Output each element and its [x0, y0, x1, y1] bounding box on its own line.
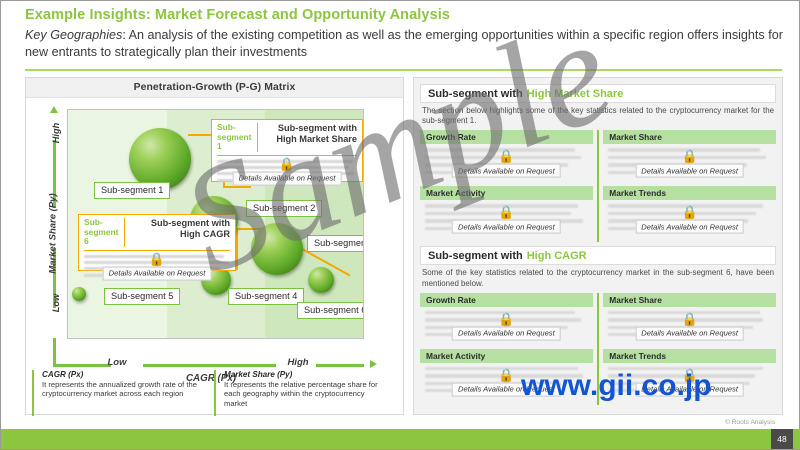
callout-2-blurred-body: 🔒 Details Available on Request: [84, 255, 230, 277]
callout-1-blurred-body: 🔒 Details Available on Request: [217, 160, 357, 182]
leader-line-seg2-v: [236, 228, 238, 270]
section-1-col-right: Market Share 🔒 Details Available on Requ…: [603, 130, 776, 242]
x-tick-high: High: [278, 357, 318, 368]
subtitle-emphasis: Key Geographies: [25, 28, 122, 42]
definitions-row: CAGR (Px) It represents the annualized g…: [26, 370, 403, 416]
stat-card-title: Market Activity: [420, 186, 593, 200]
bubble-sub-segment-3[interactable]: [251, 223, 303, 275]
stat-card-market-activity[interactable]: Market Activity 🔒 Details Available on R…: [420, 186, 593, 238]
section-1-description: The section below highlights some of the…: [420, 103, 776, 130]
copyright-text: © Roots Analysis: [725, 419, 775, 426]
section-2-prefix: Sub-segment with: [428, 250, 523, 262]
page-number: 48: [771, 429, 793, 449]
stat-card-body: 🔒 Details Available on Request: [420, 200, 593, 238]
stat-card-body: 🔒 Details Available on Request: [420, 363, 593, 401]
section-1-highlight: High Market Share: [527, 88, 624, 100]
callout-2-head: Sub-segment 6 Sub-segment with High CAGR: [84, 218, 230, 247]
stat-card-body: 🔒 Details Available on Request: [603, 200, 776, 238]
section-2-col-left: Growth Rate 🔒 Details Available on Reque…: [420, 293, 593, 405]
stat-card-body: 🔒 Details Available on Request: [420, 144, 593, 182]
stat-card-market-share[interactable]: Market Share 🔒 Details Available on Requ…: [603, 293, 776, 345]
leader-line-seg1-h2: [223, 186, 251, 188]
stat-card-growth-rate[interactable]: Growth Rate 🔒 Details Available on Reque…: [420, 130, 593, 182]
matrix-title: Penetration-Growth (P-G) Matrix: [134, 82, 296, 93]
bubble-sub-segment-1[interactable]: [129, 128, 191, 190]
section-2-col-right: Market Share 🔒 Details Available on Requ…: [603, 293, 776, 405]
page-title: Example Insights: Market Forecast and Op…: [25, 7, 450, 23]
definition-market-share-desc: It represents the relative percentage sh…: [224, 380, 386, 408]
x-axis-segment-right: [316, 364, 364, 367]
x-tick-low: Low: [94, 357, 140, 368]
matrix-card: Penetration-Growth (P-G) Matrix Market S…: [25, 77, 404, 415]
stat-card-title: Market Activity: [420, 349, 593, 363]
y-tick-high: High: [51, 113, 61, 153]
stat-card-body: 🔒 Details Available on Request: [603, 363, 776, 401]
page-subtitle: Key Geographies: An analysis of the exis…: [25, 27, 783, 60]
stat-card-title: Market Share: [603, 130, 776, 144]
callout-1-subsegment: Sub-segment 1: [217, 123, 257, 152]
section-2-description: Some of the key statistics related to th…: [420, 265, 776, 292]
stat-card-market-activity[interactable]: Market Activity 🔒 Details Available on R…: [420, 349, 593, 401]
section-1-prefix: Sub-segment with: [428, 88, 523, 100]
y-axis-segment-low: [53, 338, 56, 366]
stat-card-title: Growth Rate: [420, 130, 593, 144]
callout-2-subsegment: Sub-segment 6: [84, 218, 124, 247]
callout-1-title: Sub-segment with High Market Share: [264, 123, 357, 145]
section-2-card-grid: Growth Rate 🔒 Details Available on Reque…: [420, 293, 776, 405]
callout-high-market-share[interactable]: Sub-segment 1 Sub-segment with High Mark…: [211, 119, 363, 182]
callout-1-rule: [217, 155, 357, 156]
label-sub-segment-4[interactable]: Sub-segment 4: [228, 288, 304, 305]
callout-2-title: Sub-segment with High CAGR: [131, 218, 230, 240]
matrix-plot-area: Market Share (Py) High Low CAGR (Px) Low…: [26, 98, 403, 416]
section-2-highlight: High CAGR: [527, 250, 587, 262]
bubble-plot: Sub-segment 1 Sub-segment 2 Sub-segment …: [67, 109, 364, 339]
stat-card-title: Growth Rate: [420, 293, 593, 307]
bubble-sub-segment-6[interactable]: [308, 267, 334, 293]
x-axis-segment-mid: [143, 364, 276, 367]
matrix-title-bar: Penetration-Growth (P-G) Matrix: [26, 78, 403, 98]
title-divider: [25, 69, 782, 71]
definition-cagr-desc: It represents the annualized growth rate…: [42, 380, 206, 399]
section-header-high-market-share: Sub-segment with High Market Share: [420, 84, 776, 103]
y-axis-label: Market Share (Py): [48, 179, 59, 289]
stat-card-body: 🔒 Details Available on Request: [420, 307, 593, 345]
label-sub-segment-5[interactable]: Sub-segment 5: [104, 288, 180, 305]
insights-panel: Sub-segment with High Market Share The s…: [413, 77, 783, 415]
stat-card-title: Market Trends: [603, 349, 776, 363]
stat-card-body: 🔒 Details Available on Request: [603, 144, 776, 182]
callout-1-head: Sub-segment 1 Sub-segment with High Mark…: [217, 123, 357, 152]
definition-market-share: Market Share (Py) It represents the rela…: [214, 370, 394, 416]
callout-1-divider: [257, 123, 258, 152]
label-sub-segment-2[interactable]: Sub-segment 2: [246, 200, 322, 217]
y-axis-arrow-icon: [50, 106, 58, 113]
definition-cagr-term: CAGR (Px): [42, 370, 206, 379]
callout-high-cagr[interactable]: Sub-segment 6 Sub-segment with High CAGR…: [78, 214, 236, 271]
label-sub-segment-3[interactable]: Sub-segment 3: [307, 235, 364, 252]
section-1-column-divider: [597, 130, 600, 242]
section-header-high-cagr: Sub-segment with High CAGR: [420, 246, 776, 265]
stat-card-market-trends[interactable]: Market Trends 🔒 Details Available on Req…: [603, 186, 776, 238]
callout-2-rule: [84, 250, 230, 251]
stat-card-market-trends[interactable]: Market Trends 🔒 Details Available on Req…: [603, 349, 776, 401]
subtitle-rest: : An analysis of the existing competitio…: [25, 28, 783, 59]
x-axis-arrow-icon: [370, 360, 377, 368]
definition-market-share-term: Market Share (Py): [224, 370, 386, 379]
bubble-sub-segment-5[interactable]: [72, 287, 86, 301]
section-2-column-divider: [597, 293, 600, 405]
stat-card-body: 🔒 Details Available on Request: [603, 307, 776, 345]
stat-card-title: Market Share: [603, 293, 776, 307]
definition-cagr: CAGR (Px) It represents the annualized g…: [32, 370, 214, 416]
label-sub-segment-6[interactable]: Sub-segment 6: [297, 302, 364, 319]
stat-card-market-share[interactable]: Market Share 🔒 Details Available on Requ…: [603, 130, 776, 182]
callout-2-divider: [124, 218, 125, 247]
footer-bar: [1, 429, 800, 449]
stat-card-title: Market Trends: [603, 186, 776, 200]
section-1-card-grid: Growth Rate 🔒 Details Available on Reque…: [420, 130, 776, 242]
stat-card-growth-rate[interactable]: Growth Rate 🔒 Details Available on Reque…: [420, 293, 593, 345]
section-1-col-left: Growth Rate 🔒 Details Available on Reque…: [420, 130, 593, 242]
y-tick-low: Low: [51, 283, 61, 323]
label-sub-segment-1[interactable]: Sub-segment 1: [94, 182, 170, 199]
